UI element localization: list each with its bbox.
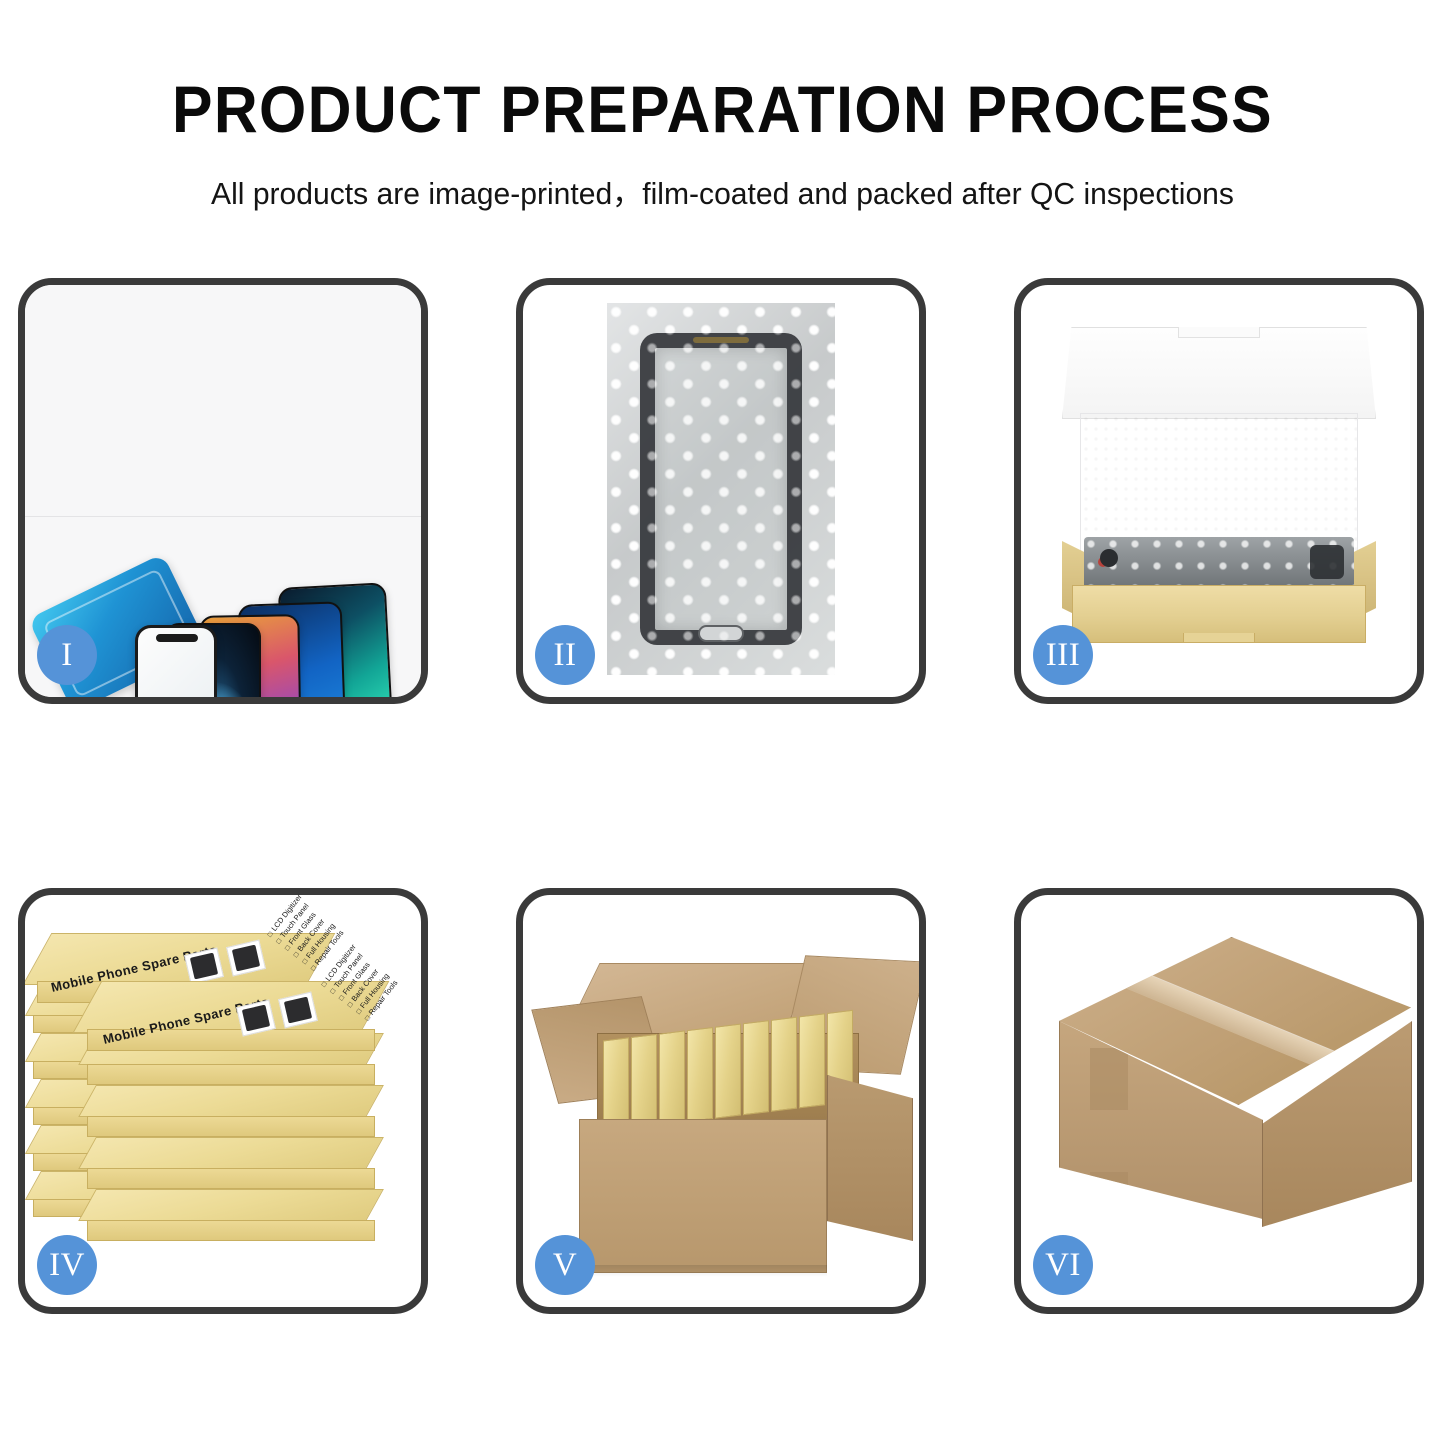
step-panel-4: Mobile Phone Spare Parts LCD Digitizer T… [18,888,428,1314]
retail-box-front-4 [87,1137,375,1189]
step-badge-2: II [535,625,595,685]
step-panel-3: III [1014,278,1424,704]
wrapped-screen-in-box [1084,537,1354,589]
carton-front-face [579,1119,827,1273]
front-glass-panel [135,625,217,697]
step-badge-1: I [37,625,97,685]
box-lid-tab [1178,324,1260,338]
retail-box-front-5 [87,1189,375,1241]
step-panel-2: II [516,278,926,704]
stacked-retail-boxes: Mobile Phone Spare Parts LCD Digitizer T… [33,929,421,1289]
box-front-wall [1072,585,1366,643]
sealed-shipping-carton [1043,937,1417,1287]
step-badge-3: III [1033,625,1093,685]
open-shipping-carton [541,947,919,1293]
retail-box-front-3 [87,1085,375,1137]
open-mailer-box [1054,327,1384,657]
box-lid [1062,327,1376,419]
retail-box-printed-front: Mobile Phone Spare Parts LCD Digitizer T… [87,981,375,1051]
step-panel-1: I [18,278,428,704]
step-panel-5: V [516,888,926,1314]
carton-side-face [827,1075,913,1241]
home-button [698,625,744,642]
page-subtitle: All products are image-printed，film-coat… [22,168,1424,213]
step-badge-4: IV [37,1235,97,1295]
carton-tab-lower [1090,1172,1128,1218]
step-badge-5: V [535,1235,595,1295]
product-preparation-infographic: PRODUCT PREPARATION PROCESS All products… [0,0,1445,1445]
page-title: PRODUCT PREPARATION PROCESS [58,76,1387,142]
bubble-wrap-sheet [607,303,835,675]
step-badge-6: VI [1033,1235,1093,1295]
carton-tab-upper [1090,1048,1128,1110]
header: PRODUCT PREPARATION PROCESS All products… [0,0,1445,213]
wrapped-screen-assembly [640,333,802,645]
carton-shadow [579,1265,827,1277]
step-panel-6: VI [1014,888,1424,1314]
